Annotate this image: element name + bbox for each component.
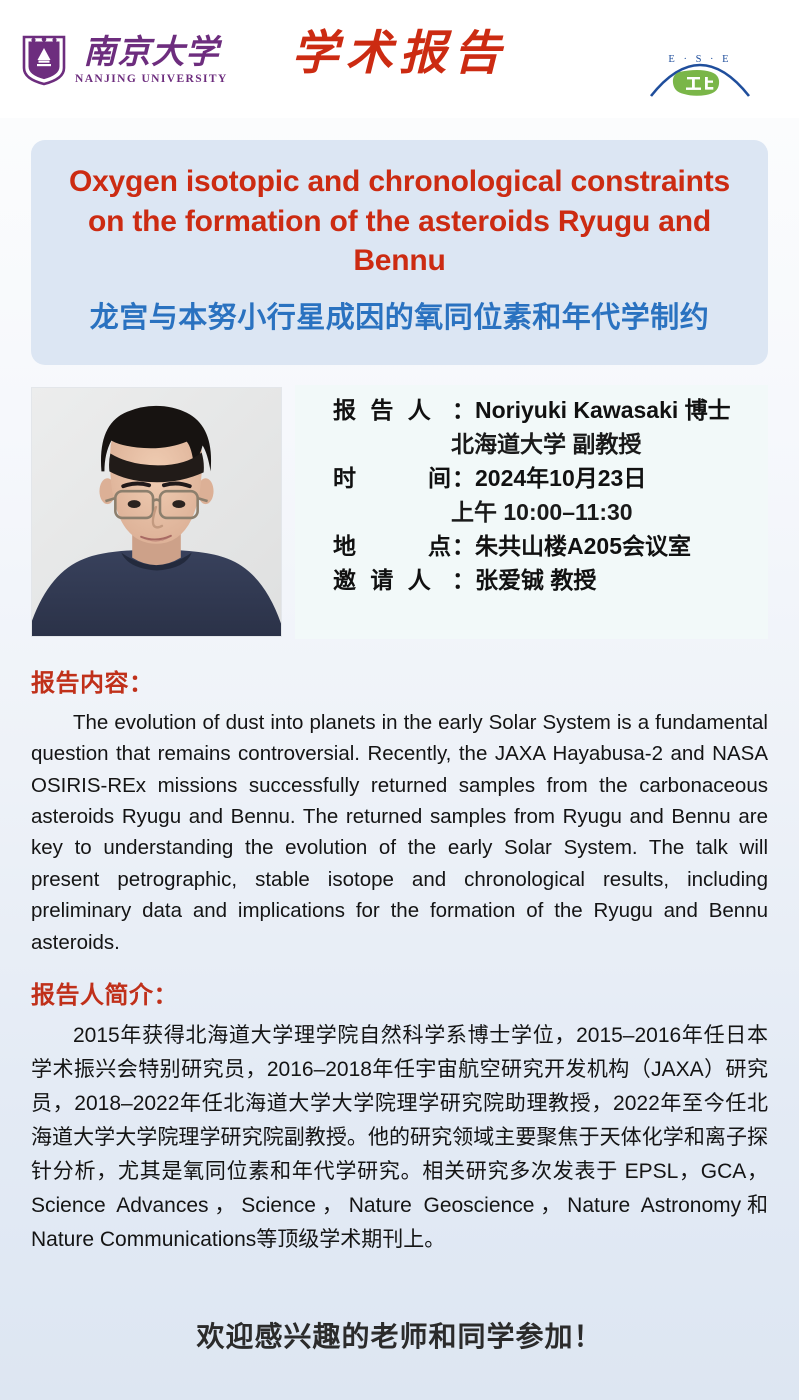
speaker-value: Noriyuki Kawasaki 博士 (475, 399, 731, 422)
host-label: 邀 请 人 (333, 569, 451, 592)
ese-department-logo: E · S · E (645, 32, 755, 106)
welcome-note: 欢迎感兴趣的老师和同学参加！ (0, 1315, 799, 1355)
speaker-photo (31, 387, 282, 637)
time-value-hours: 上午 10:00–11:30 (451, 501, 768, 524)
speaker-info-block: 报 告 人 ： Noriyuki Kawasaki 博士 北海道大学 副教授 时… (0, 385, 799, 641)
bio-heading: 报告人简介： (31, 975, 768, 1010)
speaker-label: 报 告 人 (333, 399, 451, 422)
bio-text: 2015年获得北海道大学理学院自然科学系博士学位，2015–2016年任日本学术… (31, 1019, 768, 1257)
time-label: 时 间 (333, 467, 451, 490)
svg-text:E · S · E: E · S · E (668, 54, 731, 65)
speaker-colon: ： (452, 399, 475, 422)
talk-title-english: Oxygen isotopic and chronological constr… (57, 162, 742, 281)
time-colon: ： (452, 467, 475, 490)
speaker-affiliation: 北海道大学 副教授 (451, 433, 768, 456)
detail-row-speaker: 报 告 人 ： Noriyuki Kawasaki 博士 (333, 399, 768, 422)
bio-section: 报告人简介： 2015年获得北海道大学理学院自然科学系博士学位，2015–201… (31, 975, 768, 1257)
detail-row-host: 邀 请 人 ： 张爱铖 教授 (333, 569, 768, 592)
poster-header: 南京大学 NANJING UNIVERSITY 学术报告 E · S · E (0, 0, 799, 118)
abstract-text: The evolution of dust into planets in th… (31, 707, 768, 958)
time-label-char1: 时 (333, 467, 356, 490)
talk-title-chinese: 龙宫与本努小行星成因的氧同位素和年代学制约 (57, 301, 742, 336)
talk-details-panel: 报 告 人 ： Noriyuki Kawasaki 博士 北海道大学 副教授 时… (295, 385, 768, 639)
host-value: 张爱铖 教授 (475, 569, 596, 592)
place-label: 地 点 (333, 535, 451, 558)
speaker-portrait-image (32, 388, 281, 636)
abstract-heading: 报告内容： (31, 663, 768, 698)
host-colon: ： (452, 569, 475, 592)
place-value: 朱共山楼A205会议室 (475, 535, 691, 558)
ese-logo-icon: E · S · E (645, 32, 755, 106)
time-label-char2: 间 (428, 467, 451, 490)
abstract-section: 报告内容： The evolution of dust into planets… (31, 663, 768, 958)
detail-row-time: 时 间 ： 2024年10月23日 (333, 467, 768, 490)
place-label-char1: 地 (333, 535, 356, 558)
time-value: 2024年10月23日 (475, 467, 646, 490)
place-colon: ： (452, 535, 475, 558)
place-label-char2: 点 (428, 535, 451, 558)
title-panel: Oxygen isotopic and chronological constr… (31, 140, 768, 365)
detail-row-place: 地 点 ： 朱共山楼A205会议室 (333, 535, 768, 558)
